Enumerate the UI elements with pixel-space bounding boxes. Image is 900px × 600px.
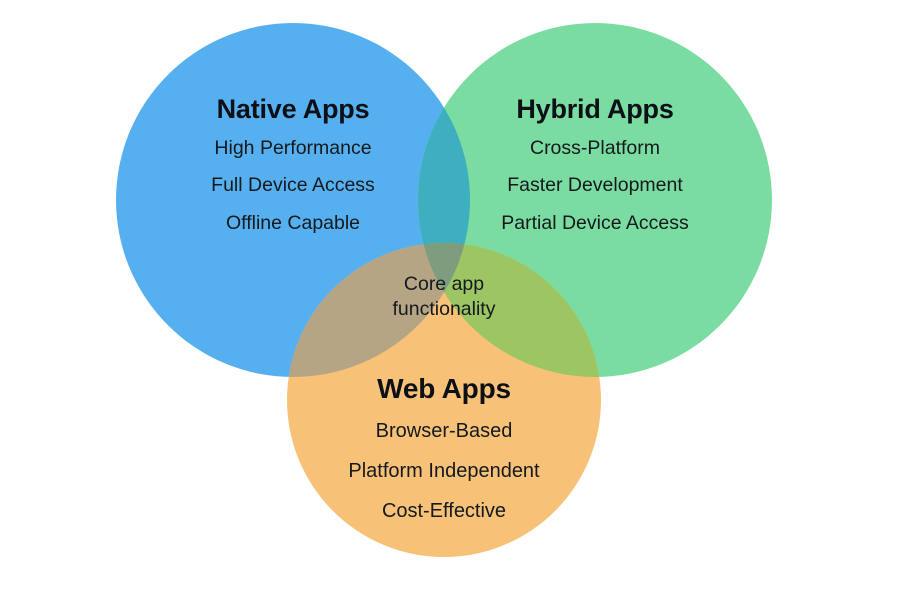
set-label-hybrid-apps: Hybrid Apps Cross-Platform Faster Develo…: [445, 95, 745, 233]
set-item: Partial Device Access: [445, 214, 745, 234]
set-item: Offline Capable: [143, 214, 443, 234]
set-item: Cost-Effective: [294, 501, 594, 521]
set-item: Platform Independent: [294, 461, 594, 481]
set-items-native-apps: High Performance Full Device Access Offl…: [143, 139, 443, 234]
set-title-web-apps: Web Apps: [294, 374, 594, 405]
set-items-web-apps: Browser-Based Platform Independent Cost-…: [294, 421, 594, 521]
set-item: Browser-Based: [294, 421, 594, 441]
set-item: Cross-Platform: [445, 139, 745, 159]
set-label-web-apps: Web Apps Browser-Based Platform Independ…: [294, 374, 594, 541]
intersection-label-line-2: functionality: [344, 297, 544, 322]
intersection-label-line-1: Core app: [344, 272, 544, 297]
set-item: High Performance: [143, 139, 443, 159]
intersection-label-core: Core app functionality: [344, 272, 544, 322]
venn-diagram-canvas: Native Apps High Performance Full Device…: [0, 0, 900, 600]
set-label-native-apps: Native Apps High Performance Full Device…: [143, 95, 443, 233]
set-title-native-apps: Native Apps: [143, 95, 443, 125]
set-items-hybrid-apps: Cross-Platform Faster Development Partia…: [445, 139, 745, 234]
set-item: Faster Development: [445, 176, 745, 196]
set-item: Full Device Access: [143, 176, 443, 196]
set-title-hybrid-apps: Hybrid Apps: [445, 95, 745, 125]
